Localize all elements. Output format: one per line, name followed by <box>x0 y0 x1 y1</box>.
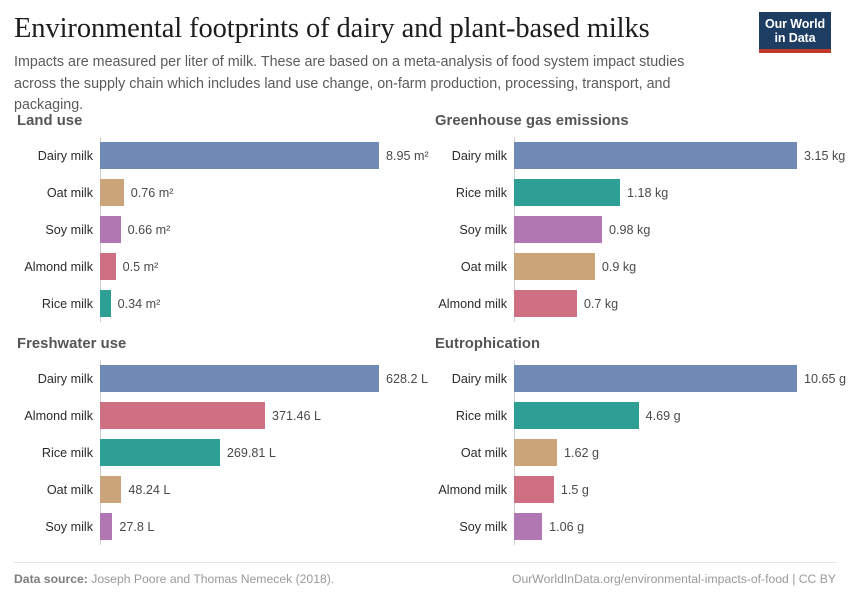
bar-category-label: Soy milk <box>45 223 93 237</box>
page-title: Environmental footprints of dairy and pl… <box>14 12 836 46</box>
bar-value-label: 10.65 g <box>804 372 846 386</box>
bar-category-label: Almond milk <box>438 297 507 311</box>
bar[interactable] <box>100 365 379 392</box>
bar-row[interactable]: Dairy milk3.15 kg <box>514 137 850 174</box>
bar-row[interactable]: Oat milk0.76 m² <box>100 174 432 211</box>
bar-category-label: Oat milk <box>461 446 507 460</box>
bar-category-label: Oat milk <box>47 186 93 200</box>
bar-value-label: 269.81 L <box>227 446 276 460</box>
owid-logo-line2: in Data <box>761 31 829 45</box>
bar-row[interactable]: Rice milk1.18 kg <box>514 174 850 211</box>
bar[interactable] <box>100 439 220 466</box>
bar-row[interactable]: Oat milk0.9 kg <box>514 248 850 285</box>
bar-value-label: 0.9 kg <box>602 260 636 274</box>
bar-category-label: Dairy milk <box>38 372 93 386</box>
chart-title: Greenhouse gas emissions <box>432 113 850 129</box>
bar-category-label: Rice milk <box>42 297 93 311</box>
bar-row[interactable]: Almond milk0.7 kg <box>514 285 850 322</box>
bar-value-label: 0.66 m² <box>128 223 171 237</box>
bar-row[interactable]: Dairy milk628.2 L <box>100 360 432 397</box>
bar[interactable] <box>100 402 265 429</box>
chart-plot-area: Dairy milk8.95 m²Oat milk0.76 m²Soy milk… <box>14 137 432 322</box>
chart-plot-area: Dairy milk628.2 LAlmond milk371.46 LRice… <box>14 360 432 545</box>
bar-value-label: 4.69 g <box>646 409 681 423</box>
bar-value-label: 1.62 g <box>564 446 599 460</box>
bar-value-label: 0.34 m² <box>118 297 161 311</box>
chart-panel: EutrophicationDairy milk10.65 gRice milk… <box>432 336 850 559</box>
bar-row[interactable]: Soy milk0.66 m² <box>100 211 432 248</box>
bar[interactable] <box>100 513 112 540</box>
chart-title: Land use <box>14 113 432 129</box>
charts-grid: Land useDairy milk8.95 m²Oat milk0.76 m²… <box>14 113 836 559</box>
bar[interactable] <box>100 253 116 280</box>
bar-value-label: 0.7 kg <box>584 297 618 311</box>
bar[interactable] <box>100 142 379 169</box>
bar-value-label: 628.2 L <box>386 372 428 386</box>
footer: Data source: Joseph Poore and Thomas Nem… <box>14 562 836 586</box>
bar-category-label: Dairy milk <box>452 149 507 163</box>
bar-value-label: 0.76 m² <box>131 186 174 200</box>
bar[interactable] <box>514 179 620 206</box>
bar[interactable] <box>514 402 639 429</box>
chart-plot-area: Dairy milk3.15 kgRice milk1.18 kgSoy mil… <box>432 137 850 322</box>
bar[interactable] <box>514 216 602 243</box>
owid-logo[interactable]: Our World in Data <box>759 12 831 53</box>
bar-row[interactable]: Almond milk371.46 L <box>100 397 432 434</box>
bar-category-label: Almond milk <box>24 409 93 423</box>
bar-category-label: Almond milk <box>438 483 507 497</box>
chart-panel: Land useDairy milk8.95 m²Oat milk0.76 m²… <box>14 113 432 336</box>
bar-value-label: 8.95 m² <box>386 149 429 163</box>
chart-panel: Greenhouse gas emissionsDairy milk3.15 k… <box>432 113 850 336</box>
bar-row[interactable]: Rice milk4.69 g <box>514 397 850 434</box>
owid-logo-line1: Our World <box>761 17 829 31</box>
bar[interactable] <box>514 290 577 317</box>
bar-row[interactable]: Rice milk269.81 L <box>100 434 432 471</box>
bar[interactable] <box>100 476 121 503</box>
bar-row[interactable]: Soy milk1.06 g <box>514 508 850 545</box>
data-source-text: Joseph Poore and Thomas Nemecek (2018). <box>91 572 334 586</box>
bar-row[interactable]: Rice milk0.34 m² <box>100 285 432 322</box>
bar-value-label: 1.5 g <box>561 483 589 497</box>
bar[interactable] <box>514 253 595 280</box>
bar-value-label: 371.46 L <box>272 409 321 423</box>
bar-value-label: 0.98 kg <box>609 223 650 237</box>
page-subtitle: Impacts are measured per liter of milk. … <box>14 52 836 117</box>
chart-plot-area: Dairy milk10.65 gRice milk4.69 gOat milk… <box>432 360 850 545</box>
bar-row[interactable]: Dairy milk10.65 g <box>514 360 850 397</box>
bar-row[interactable]: Oat milk1.62 g <box>514 434 850 471</box>
bar-category-label: Rice milk <box>42 446 93 460</box>
bar[interactable] <box>100 290 111 317</box>
bar[interactable] <box>514 439 557 466</box>
chart-title: Freshwater use <box>14 336 432 352</box>
chart-panel: Freshwater useDairy milk628.2 LAlmond mi… <box>14 336 432 559</box>
data-source-label: Data source: <box>14 572 88 586</box>
bar-row[interactable]: Oat milk48.24 L <box>100 471 432 508</box>
bar-value-label: 27.8 L <box>119 520 154 534</box>
bar-value-label: 48.24 L <box>128 483 170 497</box>
bar-row[interactable]: Dairy milk8.95 m² <box>100 137 432 174</box>
chart-title: Eutrophication <box>432 336 850 352</box>
bar-value-label: 0.5 m² <box>123 260 159 274</box>
bar[interactable] <box>514 476 554 503</box>
bar-category-label: Rice milk <box>456 186 507 200</box>
bar[interactable] <box>514 365 797 392</box>
data-source: Data source: Joseph Poore and Thomas Nem… <box>14 572 334 586</box>
bar-category-label: Dairy milk <box>452 372 507 386</box>
bar-category-label: Soy milk <box>459 520 507 534</box>
bar-value-label: 1.18 kg <box>627 186 668 200</box>
bar-row[interactable]: Almond milk1.5 g <box>514 471 850 508</box>
header: Environmental footprints of dairy and pl… <box>14 0 836 117</box>
bar-category-label: Almond milk <box>24 260 93 274</box>
footer-link[interactable]: OurWorldInData.org/environmental-impacts… <box>512 572 836 586</box>
bar-category-label: Oat milk <box>47 483 93 497</box>
bar-category-label: Oat milk <box>461 260 507 274</box>
bar[interactable] <box>514 513 542 540</box>
bar-value-label: 3.15 kg <box>804 149 845 163</box>
chart-page: Environmental footprints of dairy and pl… <box>0 0 850 600</box>
bar-row[interactable]: Soy milk0.98 kg <box>514 211 850 248</box>
bar-category-label: Dairy milk <box>38 149 93 163</box>
bar[interactable] <box>100 179 124 206</box>
bar[interactable] <box>100 216 121 243</box>
bar-row[interactable]: Almond milk0.5 m² <box>100 248 432 285</box>
bar-category-label: Rice milk <box>456 409 507 423</box>
bar-row[interactable]: Soy milk27.8 L <box>100 508 432 545</box>
bar-category-label: Soy milk <box>45 520 93 534</box>
bar-value-label: 1.06 g <box>549 520 584 534</box>
bar[interactable] <box>514 142 797 169</box>
bar-category-label: Soy milk <box>459 223 507 237</box>
